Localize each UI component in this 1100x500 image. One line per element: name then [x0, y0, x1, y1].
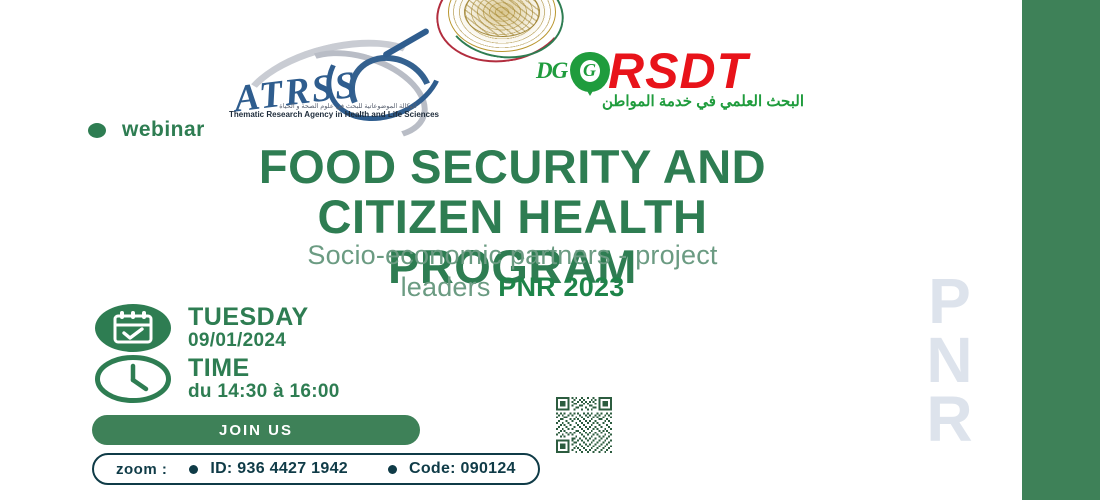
date-info-row: TUESDAY 09/01/2024	[94, 303, 309, 353]
time-value: du 14:30 à 16:00	[188, 382, 340, 403]
zoom-code-bullet-icon	[388, 465, 397, 474]
zoom-id-bullet-icon	[189, 465, 198, 474]
clock-icon	[94, 354, 172, 404]
date-info-text: TUESDAY 09/01/2024	[188, 304, 309, 351]
time-info-text: TIME du 14:30 à 16:00	[188, 355, 340, 402]
zoom-passcode: Code: 090124	[409, 460, 516, 478]
page-subtitle: Socio-economic partners - project leader…	[60, 240, 965, 304]
title-line-1: FOOD SECURITY AND	[60, 142, 965, 192]
subtitle-line-1: Socio-economic partners - project	[60, 240, 965, 272]
dgrsdt-arabic-slogan: البحث العلمي في خدمة المواطن	[538, 92, 868, 110]
zoom-label: zoom :	[116, 461, 167, 478]
subtitle-line-2-prefix: leaders	[401, 272, 499, 302]
zoom-credentials-bar: zoom : ID: 936 4427 1942 Code: 090124	[92, 453, 540, 485]
title-line-2: CITIZEN HEALTH	[60, 192, 965, 242]
pnr-watermark-letter-n: N	[895, 331, 1005, 390]
webinar-tag: webinar	[88, 118, 205, 142]
date-value: 09/01/2024	[188, 331, 309, 352]
pnr-watermark-letter-r: R	[895, 390, 1005, 449]
dgrsdt-dg-text: DG	[536, 58, 567, 84]
atrss-logo: ATRSS الوكالة الموضوعاتية للبحث في علوم …	[228, 38, 438, 122]
dgrsdt-pin-letter	[580, 60, 600, 82]
subtitle-pnr-highlight: PNR 2023	[498, 272, 624, 302]
time-info-row: TIME du 14:30 à 16:00	[94, 354, 340, 404]
atrss-arabic-name: الوكالة الموضوعاتية للبحث في علوم الصحة …	[258, 102, 438, 110]
bullet-dot-icon	[88, 123, 106, 138]
subtitle-line-2: leaders PNR 2023	[60, 272, 965, 304]
atrss-english-name: Thematic Research Agency in Health and L…	[228, 110, 440, 119]
date-heading: TUESDAY	[188, 304, 309, 330]
dgrsdt-logo: DG RSDT البحث العلمي في خدمة المواطن	[536, 48, 886, 110]
time-heading: TIME	[188, 355, 340, 381]
join-us-button[interactable]: JOIN US	[92, 415, 420, 445]
qr-code[interactable]	[536, 397, 632, 453]
right-green-bar	[1022, 0, 1100, 500]
logo-row: ATRSS الوكالة الموضوعاتية للبحث في علوم …	[0, 0, 1022, 125]
zoom-meeting-id: ID: 936 4427 1942	[210, 460, 348, 478]
calendar-check-icon	[94, 303, 172, 353]
webinar-tag-label: webinar	[122, 118, 205, 142]
webinar-poster: P N R ATRSS الوكالة الموضوعاتية للبحث في…	[0, 0, 1100, 500]
